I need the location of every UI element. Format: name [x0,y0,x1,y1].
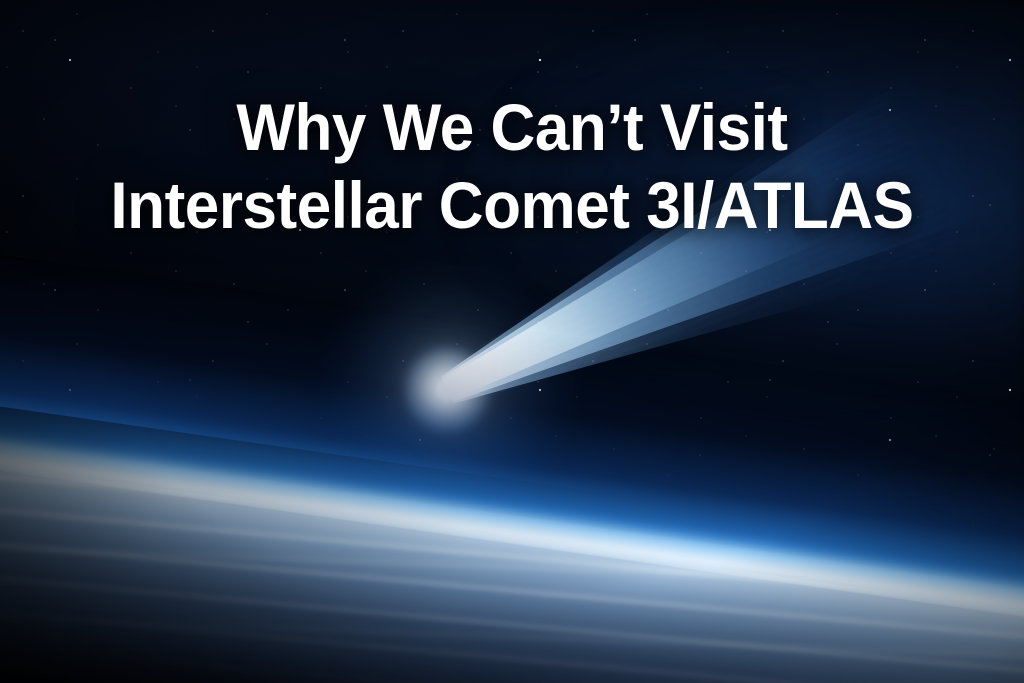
page-title-line-1: Why We Can’t Visit [31,88,994,166]
page-title-line-2: Interstellar Comet 3I/ATLAS [31,166,994,244]
page-title: Why We Can’t Visit Interstellar Comet 3I… [31,88,994,244]
hero-banner: Why We Can’t Visit Interstellar Comet 3I… [0,0,1024,683]
